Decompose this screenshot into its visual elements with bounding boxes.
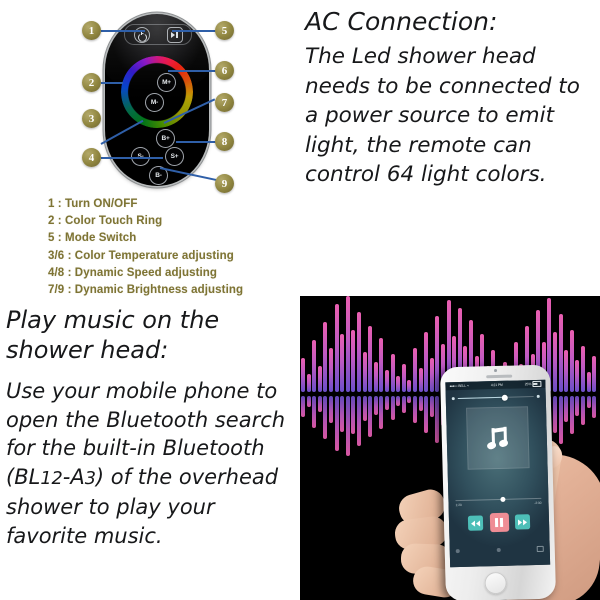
waveform-bar-mirror: [570, 396, 574, 434]
legend-item-3: 5 : Mode Switch: [48, 230, 298, 247]
phone-screen: ●●●○○ BELL ≈ 4:21 PM 25%: [445, 380, 550, 568]
waveform-bar-mirror: [587, 396, 591, 408]
waveform-bar: [413, 348, 417, 392]
waveform-bar-mirror: [340, 396, 344, 432]
progress-knob[interactable]: [500, 496, 506, 502]
waveform-bar-mirror: [396, 396, 400, 406]
remote-control-body: M+ M- B+ S- S+ B-: [105, 14, 209, 186]
callout-badge-6: 6: [215, 61, 234, 80]
waveform-bar: [374, 362, 378, 392]
leader-line-5: [172, 30, 218, 32]
smartphone: ●●●○○ BELL ≈ 4:21 PM 25%: [440, 365, 556, 600]
callout-badge-2: 2: [82, 73, 101, 92]
waveform-bar-mirror: [391, 396, 395, 420]
play-music-body: Use your mobile phone to open the Blueto…: [6, 377, 298, 551]
waveform-bar: [553, 332, 557, 392]
waveform-bar-mirror: [385, 396, 389, 410]
power-icon[interactable]: [134, 27, 150, 43]
play-music-heading: Play music on the shower head:: [6, 305, 298, 365]
waveform-bar: [402, 364, 406, 392]
callout-badge-7: 7: [215, 93, 234, 112]
pause-icon[interactable]: [489, 513, 508, 532]
callout-badge-9: 9: [215, 174, 234, 193]
bluetooth-model-num1: 12: [40, 469, 62, 489]
waveform-bar: [407, 380, 411, 392]
signal-icon: ●●●○○: [449, 384, 457, 388]
carrier-label: BELL: [458, 384, 466, 388]
earpiece-speaker: [486, 374, 512, 378]
waveform-bar-mirror: [419, 396, 423, 411]
waveform-bar-mirror: [575, 396, 579, 416]
waveform-bar-mirror: [592, 396, 596, 418]
legend-item-4: 3/6 : Color Temperature adjusting: [48, 248, 298, 265]
play-music-body-part2: -A: [63, 465, 85, 489]
waveform-bar: [379, 338, 383, 392]
waveform-bar: [592, 356, 596, 392]
waveform-bar: [340, 334, 344, 392]
playback-progress[interactable]: 1:20 -2:30: [455, 498, 541, 508]
elapsed-time: 1:20: [456, 503, 462, 507]
waveform-bar: [564, 350, 568, 392]
legend-item-2: 2 : Color Touch Ring: [48, 213, 298, 230]
play-pause-icon[interactable]: [167, 27, 183, 43]
front-camera-icon: [494, 369, 497, 372]
waveform-bar: [351, 330, 355, 392]
volume-track[interactable]: [458, 396, 534, 400]
color-touch-ring[interactable]: [110, 45, 204, 139]
callout-badge-5: 5: [215, 21, 234, 40]
waveform-bar: [435, 316, 439, 392]
mode-minus-button[interactable]: M-: [145, 93, 164, 112]
volume-knob[interactable]: [502, 394, 508, 400]
waveform-bar-mirror: [312, 396, 316, 428]
waveform-bar-mirror: [323, 396, 327, 439]
shuffle-icon[interactable]: [456, 549, 460, 553]
callout-badge-4: 4: [82, 148, 101, 167]
callout-badge-8: 8: [215, 132, 234, 151]
waveform-bar: [301, 358, 305, 392]
remaining-time: -2:30: [534, 501, 541, 505]
waveform-bar-mirror: [430, 396, 434, 417]
waveform-bar: [323, 322, 327, 392]
waveform-bar-mirror: [335, 396, 339, 451]
waveform-bar-mirror: [407, 396, 411, 403]
waveform-bar-mirror: [413, 396, 417, 423]
waveform-bar-mirror: [318, 396, 322, 412]
waveform-bar-mirror: [424, 396, 428, 433]
waveform-bar: [587, 372, 591, 392]
progress-times: 1:20 -2:30: [456, 501, 542, 507]
music-phone-photo: ●●●○○ BELL ≈ 4:21 PM 25%: [300, 296, 600, 600]
playback-controls: [468, 512, 530, 533]
waveform-bar-mirror: [307, 396, 311, 407]
mode-plus-button[interactable]: M+: [157, 73, 176, 92]
waveform-bar-mirror: [301, 396, 305, 417]
waveform-bar: [396, 376, 400, 392]
infographic-page: M+ M- B+ S- S+ B- 1 2 3 4 5 6 7 8 9 1 : …: [0, 0, 600, 600]
waveform-bar: [430, 358, 434, 392]
battery-icon: [532, 381, 541, 387]
repeat-icon[interactable]: [496, 548, 500, 552]
speed-plus-button[interactable]: S+: [165, 147, 184, 166]
waveform-bar-mirror: [357, 396, 361, 446]
waveform-bar: [335, 304, 339, 392]
waveform-bar: [329, 348, 333, 392]
volume-high-icon: [537, 395, 540, 398]
fast-forward-icon[interactable]: [515, 514, 530, 529]
waveform-bar-mirror: [351, 396, 355, 434]
legend-item-5: 4/8 : Dynamic Speed adjusting: [48, 265, 298, 282]
waveform-bar: [391, 354, 395, 392]
waveform-bar: [575, 360, 579, 392]
waveform-bar: [581, 346, 585, 392]
rewind-icon[interactable]: [468, 515, 483, 530]
remote-legend-list: 1 : Turn ON/OFF 2 : Color Touch Ring 5 :…: [48, 196, 298, 299]
waveform-bar: [368, 326, 372, 392]
waveform-bar: [570, 330, 574, 392]
waveform-bar: [419, 368, 423, 392]
waveform-bar: [559, 314, 563, 392]
callout-badge-1: 1: [82, 21, 101, 40]
music-note-icon: [484, 425, 511, 452]
battery-percent-label: 25%: [525, 382, 532, 386]
waveform-bar: [424, 332, 428, 392]
waveform-bar-mirror: [363, 396, 367, 421]
volume-fill: [458, 396, 505, 399]
waveform-bar: [318, 366, 322, 392]
leader-line-8: [176, 141, 218, 143]
callout-badge-3: 3: [82, 109, 101, 128]
wifi-icon: ≈: [467, 384, 469, 388]
waveform-bar-mirror: [374, 396, 378, 415]
top-button-pill: [124, 24, 192, 45]
waveform-bar-mirror: [402, 396, 406, 413]
leader-line-6: [168, 70, 218, 72]
leader-line-1: [101, 30, 145, 32]
playlist-icon[interactable]: [537, 546, 544, 552]
waveform-bar-mirror: [368, 396, 372, 437]
status-bar-left: ●●●○○ BELL ≈: [449, 384, 469, 389]
waveform-bar: [385, 370, 389, 392]
bluetooth-model-num2: 3: [85, 469, 96, 489]
waveform-bar: [312, 340, 316, 392]
waveform-bar: [307, 374, 311, 392]
waveform-bar: [363, 352, 367, 392]
brightness-plus-button[interactable]: B+: [156, 129, 175, 148]
legend-item-1: 1 : Turn ON/OFF: [48, 196, 298, 213]
waveform-bar-mirror: [581, 396, 585, 425]
remote-diagram-panel: M+ M- B+ S- S+ B- 1 2 3 4 5 6 7 8 9 1 : …: [0, 0, 300, 300]
legend-item-6: 7/9 : Dynamic Brightness adjusting: [48, 282, 298, 299]
ac-connection-heading: AC Connection:: [305, 6, 597, 38]
volume-low-icon: [452, 397, 455, 400]
waveform-bar: [357, 312, 361, 392]
waveform-bar-mirror: [329, 396, 333, 423]
bottom-toolbar: [456, 546, 544, 554]
album-artwork: [466, 406, 530, 470]
leader-line-4: [101, 157, 163, 159]
waveform-bar-mirror: [379, 396, 383, 429]
play-music-section: Play music on the shower head: Use your …: [6, 305, 298, 551]
ac-connection-section: AC Connection: The Led shower head needs…: [305, 6, 597, 190]
waveform-bar-mirror: [553, 396, 557, 433]
status-bar-right: 25%: [525, 381, 542, 387]
waveform-bar-mirror: [564, 396, 568, 422]
leader-line-2: [101, 82, 123, 84]
ac-connection-body: The Led shower head needs to be connecte…: [305, 42, 597, 190]
status-bar-time: 4:21 PM: [491, 383, 503, 387]
waveform-bar-mirror: [346, 396, 350, 456]
status-bar: ●●●○○ BELL ≈ 4:21 PM 25%: [445, 380, 545, 391]
volume-slider[interactable]: [452, 393, 540, 402]
waveform-bar: [346, 296, 350, 392]
home-button[interactable]: [484, 572, 507, 595]
